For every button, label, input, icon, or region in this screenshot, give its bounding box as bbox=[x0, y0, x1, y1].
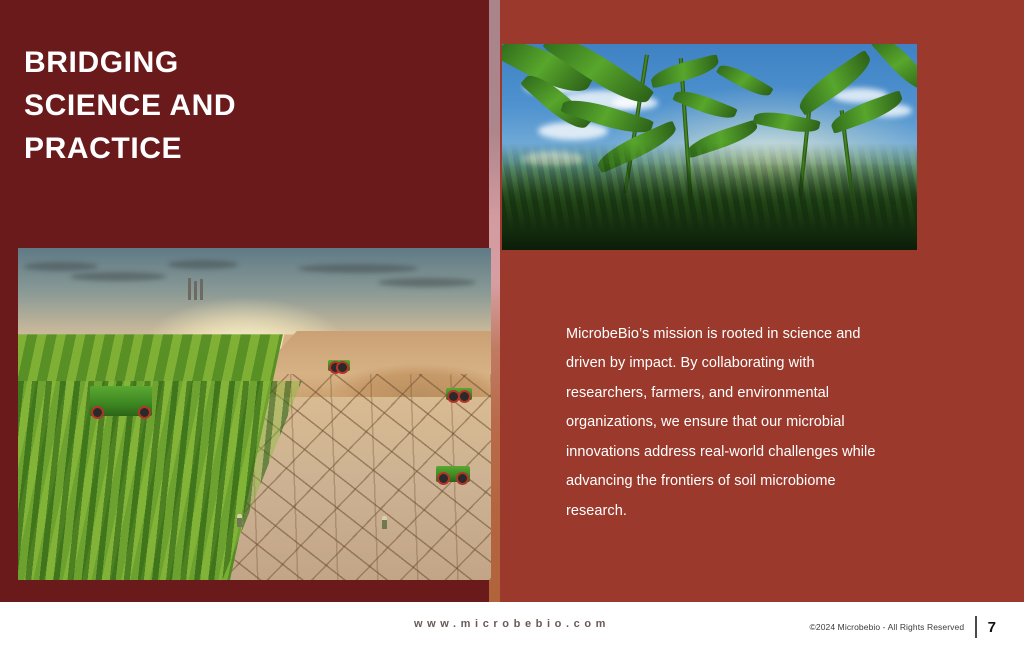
footer-bar: www.microbebio.com ©2024 Microbebio - Al… bbox=[0, 602, 1024, 652]
cloud-shape bbox=[70, 272, 166, 281]
tractor-vehicle bbox=[436, 466, 470, 482]
corn-field-low-angle-photo bbox=[502, 44, 917, 250]
cloud-shape bbox=[298, 264, 418, 273]
slide-root: BRIDGING SCIENCE AND PRACTICE bbox=[0, 0, 1024, 652]
cloud-shape bbox=[378, 278, 476, 287]
mission-paragraph: MicrobeBio’s mission is rooted in scienc… bbox=[566, 320, 896, 526]
farmer-figure bbox=[237, 514, 242, 527]
farmer-figure bbox=[382, 516, 387, 529]
page-number: 7 bbox=[988, 619, 996, 636]
footer-right-group: ©2024 Microbebio - All Rights Reserved 7 bbox=[810, 616, 996, 638]
factory-chimney bbox=[200, 279, 203, 300]
cloud-shape bbox=[24, 262, 98, 271]
field-ground bbox=[502, 163, 917, 250]
tractor-vehicle bbox=[328, 360, 350, 371]
footer-copyright-text: ©2024 Microbebio - All Rights Reserved bbox=[810, 622, 965, 632]
factory-chimney bbox=[194, 281, 197, 300]
factory-chimney bbox=[188, 278, 191, 300]
page-title: BRIDGING SCIENCE AND PRACTICE bbox=[24, 42, 454, 171]
footer-divider bbox=[975, 616, 977, 638]
harvester-vehicle bbox=[90, 386, 152, 416]
tractor-vehicle bbox=[446, 388, 472, 400]
farmland-versus-drought-photo bbox=[18, 248, 491, 580]
cloud-shape bbox=[168, 260, 238, 269]
